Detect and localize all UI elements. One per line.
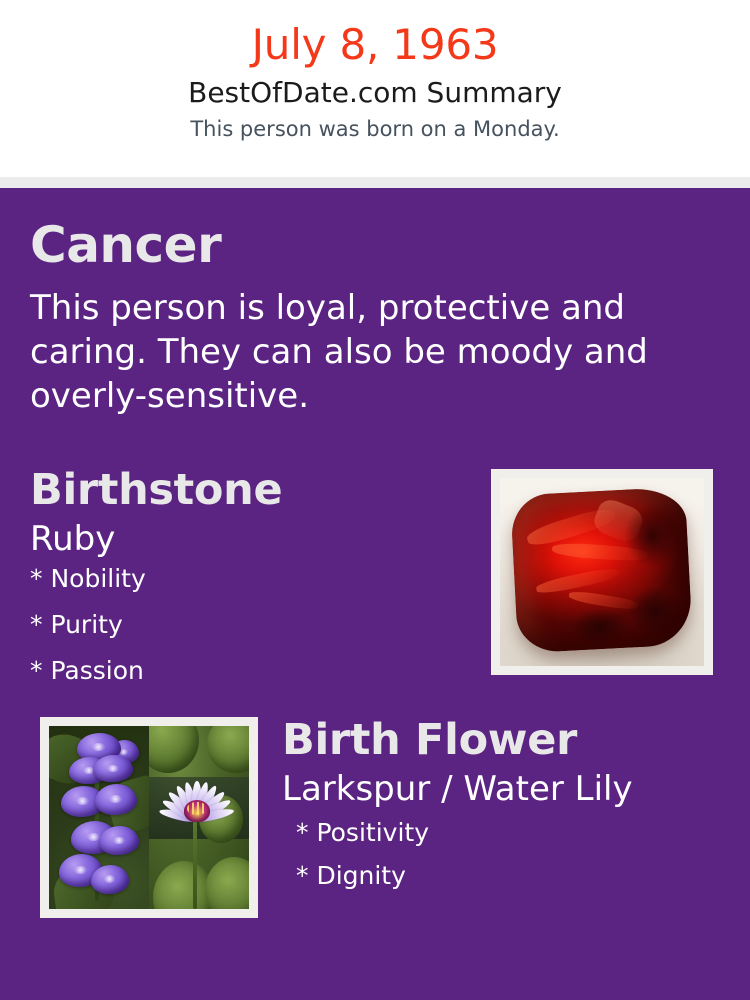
list-item: * Dignity xyxy=(296,863,720,888)
list-item: * Positivity xyxy=(296,820,720,845)
larkspur-photo xyxy=(49,726,149,909)
birthstone-image xyxy=(491,469,713,675)
ruby-crystal xyxy=(510,486,693,653)
zodiac-sign-heading: Cancer xyxy=(30,220,720,270)
site-name: BestOfDate.com Summary xyxy=(0,79,750,107)
birth-flower-trait-list: * Positivity * Dignity xyxy=(282,820,720,888)
birthstone-section: Birthstone Ruby * Nobility * Purity * Pa… xyxy=(30,469,720,695)
flower-composite-photo xyxy=(49,726,249,909)
header: July 8, 1963 BestOfDate.com Summary This… xyxy=(0,0,750,177)
birth-flower-text: Birth Flower Larkspur / Water Lily * Pos… xyxy=(282,717,720,888)
summary-card: July 8, 1963 BestOfDate.com Summary This… xyxy=(0,0,750,1000)
birth-flower-image xyxy=(40,717,258,918)
birth-flower-name: Larkspur / Water Lily xyxy=(282,772,720,806)
birth-flower-section: Birth Flower Larkspur / Water Lily * Pos… xyxy=(30,717,720,922)
details-panel: Cancer This person is loyal, protective … xyxy=(0,188,750,1000)
page-title: July 8, 1963 xyxy=(0,24,750,66)
ruby-photo xyxy=(500,478,704,666)
zodiac-description: This person is loyal, protective and car… xyxy=(30,286,650,419)
birth-flower-heading: Birth Flower xyxy=(282,719,720,762)
day-of-week-note: This person was born on a Monday. xyxy=(0,119,750,140)
zodiac-section: Cancer This person is loyal, protective … xyxy=(30,188,720,419)
header-divider xyxy=(0,177,750,188)
birth-flower-image-inner xyxy=(49,726,249,909)
birthstone-image-inner xyxy=(500,478,704,666)
water-lily-photo xyxy=(149,726,249,909)
water-lily-bloom xyxy=(161,755,233,828)
